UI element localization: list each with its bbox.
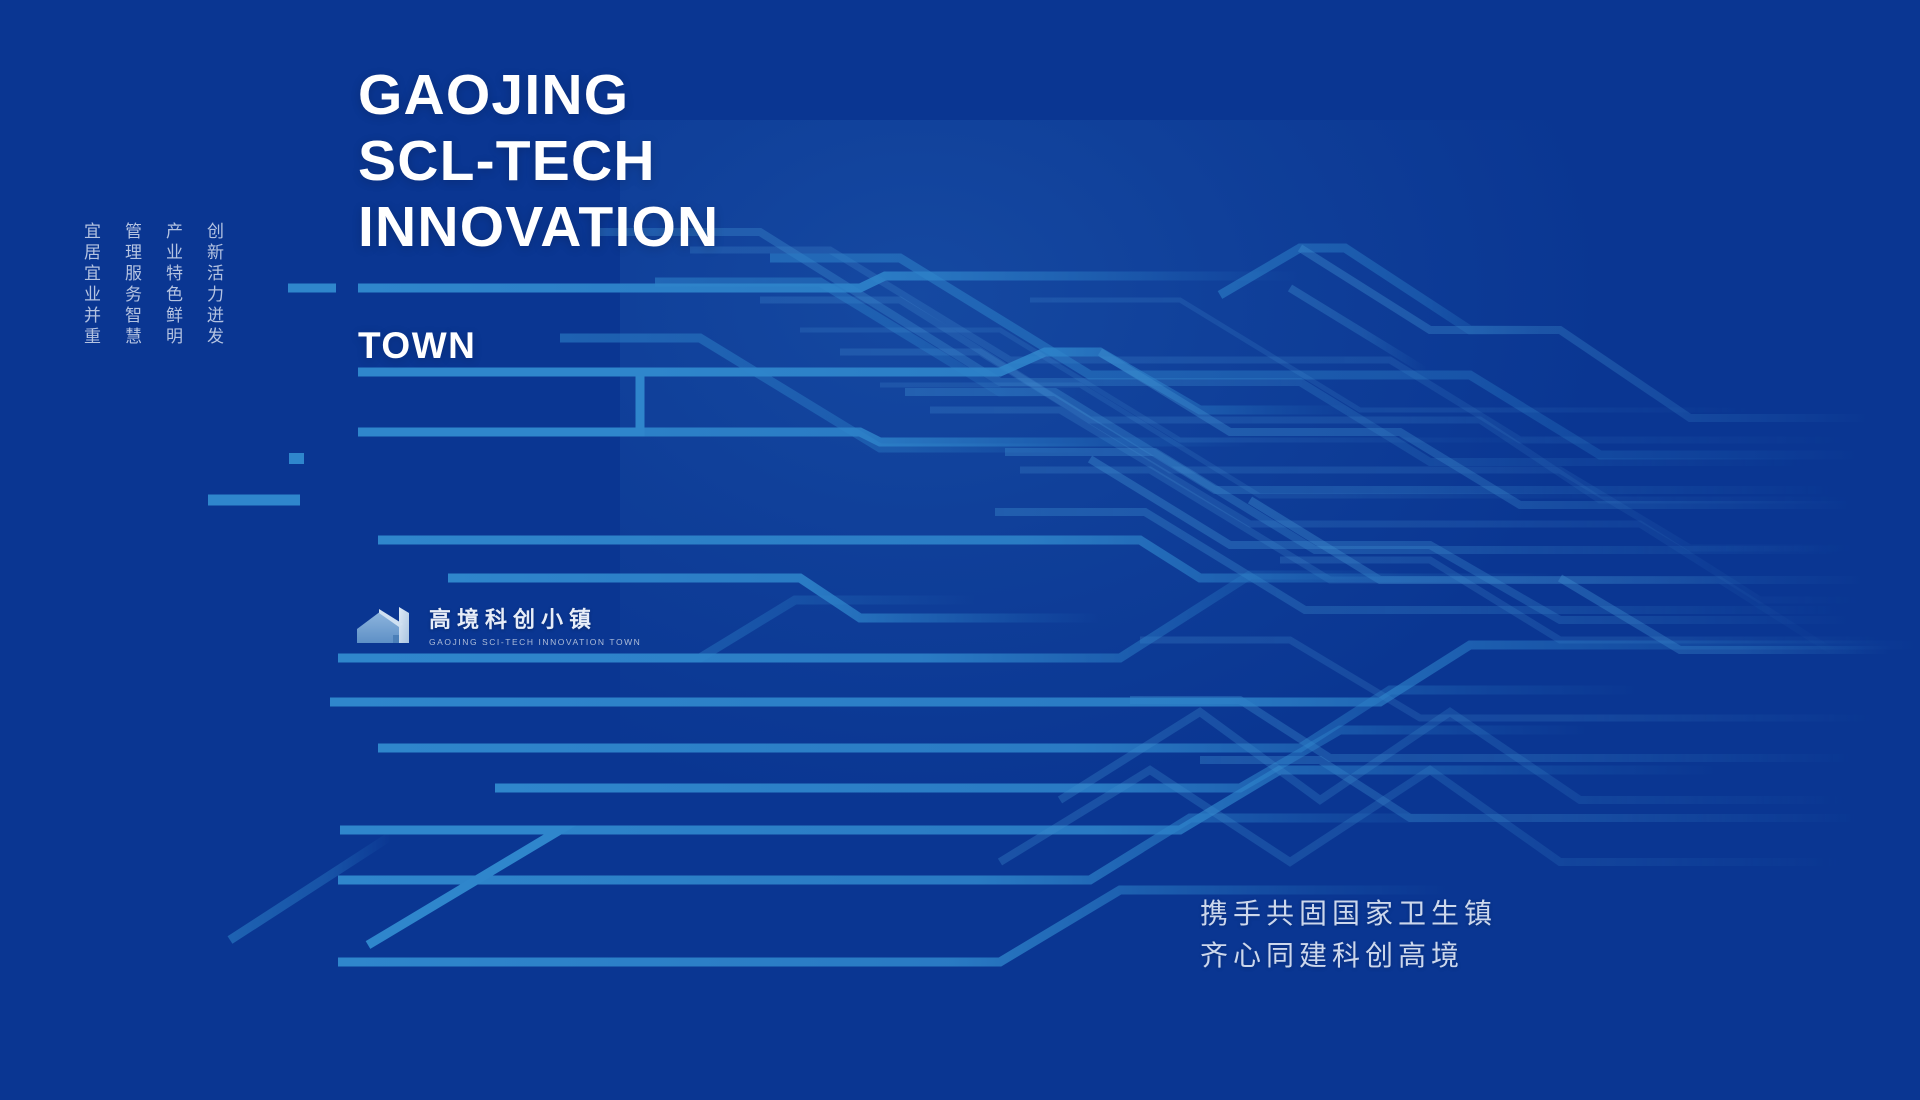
poster-canvas: GAOJING SCL-TECH INNOVATION TOWN 创新活力迸发 … [0, 0, 1920, 1100]
page-title: GAOJING SCL-TECH INNOVATION [358, 62, 719, 260]
page-subtitle: TOWN [358, 325, 476, 367]
logo-english-name: GAOJING SCI-TECH INNOVATION TOWN [429, 637, 641, 647]
campaign-slogan: 携手共固国家卫生镇 齐心同建科创高境 [1200, 893, 1497, 977]
vertical-motto-line-1: 创新活力迸发 [201, 222, 226, 348]
vertical-motto: 创新活力迸发 产业特色鲜明 管理服务智慧 宜居宜业并重 [78, 222, 226, 348]
logo-lockup: 高境科创小镇 GAOJING SCI-TECH INNOVATION TOWN [355, 602, 641, 647]
house-building-icon [355, 603, 417, 647]
logo-chinese-name: 高境科创小镇 [429, 602, 641, 634]
vertical-motto-line-2: 产业特色鲜明 [160, 222, 185, 348]
vertical-motto-line-4: 宜居宜业并重 [78, 222, 103, 348]
circuit-trace-pattern [0, 0, 1920, 1100]
vertical-motto-line-3: 管理服务智慧 [119, 222, 144, 348]
